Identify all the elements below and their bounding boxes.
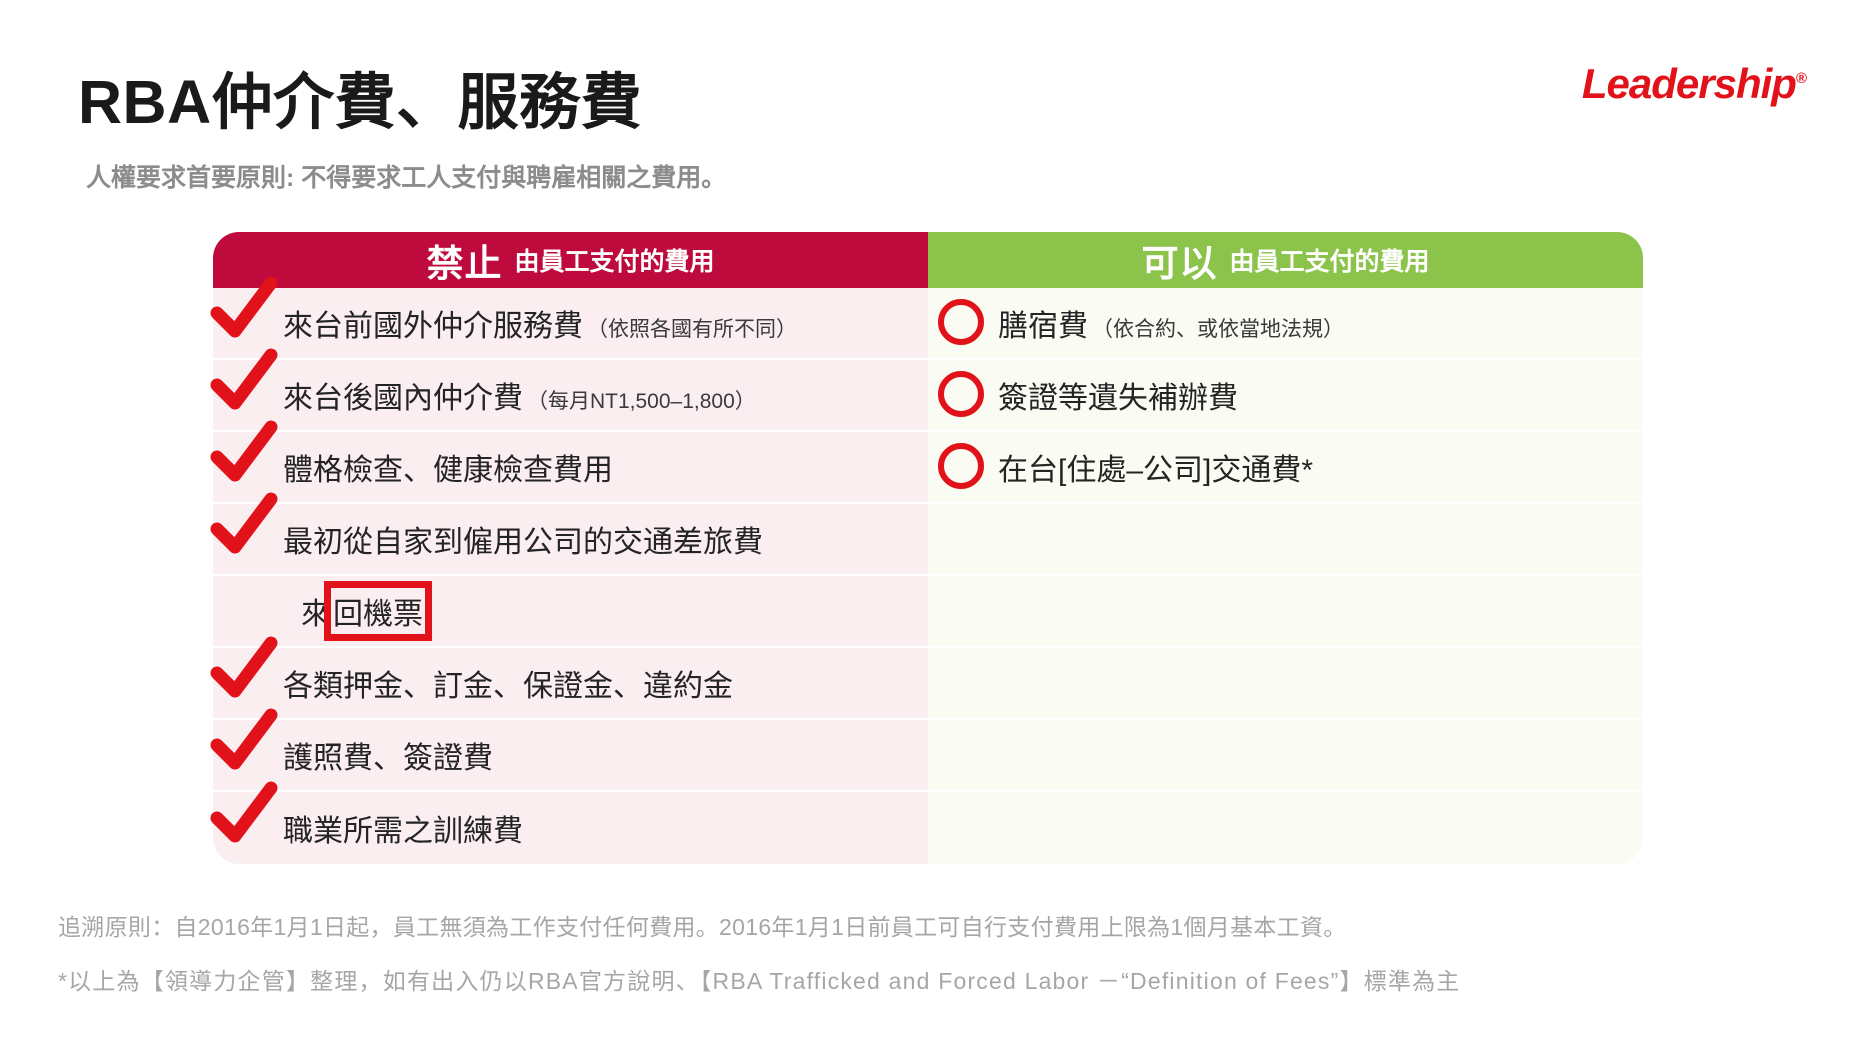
circle-icon	[938, 443, 984, 489]
table-row: 護照費、簽證費	[213, 720, 928, 792]
row-label-text: 來	[301, 589, 331, 633]
row-label-text: 職業所需之訓練費	[283, 806, 523, 850]
table-header-row: 禁止 由員工支付的費用 可以 由員工支付的費用	[213, 232, 1643, 288]
column-allowed: 膳宿費（依合約、或依當地法規）簽證等遺失補辦費在台[住處–公司]交通費*	[928, 288, 1643, 864]
row-label: 體格檢查、健康檢查費用	[283, 445, 613, 489]
mark-slot	[936, 575, 998, 647]
table-row: 最初從自家到僱用公司的交通差旅費	[213, 504, 928, 576]
row-label-text: 來台前國外仲介服務費	[283, 301, 583, 345]
footnote-retroactive-principle: 追溯原則：自2016年1月1日起，員工無須為工作支付任何費用。2016年1月1日…	[58, 908, 1818, 942]
column-header-allowed-sub: 由員工支付的費用	[1229, 242, 1429, 278]
row-label: 來台前國外仲介服務費（依照各國有所不同）	[283, 301, 797, 345]
highlight-box: 回機票	[331, 588, 425, 634]
row-label: 來台後國內仲介費（每月NT1,500–1,800）	[283, 373, 756, 417]
row-label-text: 最初從自家到僱用公司的交通差旅費	[283, 517, 763, 561]
row-label-text: 各類押金、訂金、保證金、違約金	[283, 661, 733, 705]
row-label-text: 簽證等遺失補辦費	[998, 373, 1238, 417]
row-label: 來回機票	[301, 588, 425, 634]
slide-header: RBA仲介費、服務費 人權要求首要原則: 不得要求工人支付與聘雇相關之費用。 L…	[0, 0, 1854, 200]
mark-slot	[221, 503, 283, 575]
check-icon	[209, 273, 281, 345]
table-row: 來台前國外仲介服務費（依照各國有所不同）	[213, 288, 928, 360]
check-icon	[209, 778, 281, 850]
row-label: 簽證等遺失補辦費	[998, 373, 1238, 417]
circle-icon	[938, 371, 984, 417]
check-icon	[209, 417, 281, 489]
column-header-forbidden-main: 禁止	[426, 233, 502, 287]
table-row: 體格檢查、健康檢查費用	[213, 432, 928, 504]
table-row: 各類押金、訂金、保證金、違約金	[213, 648, 928, 720]
row-label: 膳宿費（依合約、或依當地法規）	[998, 301, 1344, 345]
footnote-source-disclaimer: *以上為【領導力企管】整理，如有出入仍以RBA官方說明、【RBA Traffic…	[58, 962, 1818, 996]
table-row: 簽證等遺失補辦費	[928, 360, 1643, 432]
row-note: （依照各國有所不同）	[587, 313, 797, 343]
page-title: RBA仲介費、服務費	[78, 52, 642, 141]
table-row	[928, 720, 1643, 792]
mark-slot	[936, 719, 998, 791]
row-note: （每月NT1,500–1,800）	[527, 385, 756, 415]
check-icon	[209, 345, 281, 417]
column-header-forbidden-sub: 由員工支付的費用	[514, 242, 714, 278]
row-label-text: 護照費、簽證費	[283, 733, 493, 777]
column-header-allowed-main: 可以	[1141, 233, 1217, 287]
row-label: 護照費、簽證費	[283, 733, 493, 777]
row-label-text: 來台後國內仲介費	[283, 373, 523, 417]
row-note: （依合約、或依當地法規）	[1092, 313, 1344, 343]
page-subtitle: 人權要求首要原則: 不得要求工人支付與聘雇相關之費用。	[86, 158, 726, 194]
table-row: 在台[住處–公司]交通費*	[928, 432, 1643, 504]
brand-logo: Leadership®	[1582, 60, 1806, 108]
mark-slot	[936, 503, 998, 575]
check-icon	[209, 705, 281, 777]
row-label: 各類押金、訂金、保證金、違約金	[283, 661, 733, 705]
table-row	[928, 648, 1643, 720]
table-body: 來台前國外仲介服務費（依照各國有所不同）來台後國內仲介費（每月NT1,500–1…	[213, 288, 1643, 864]
table-row: 膳宿費（依合約、或依當地法規）	[928, 288, 1643, 360]
table-row: 來台後國內仲介費（每月NT1,500–1,800）	[213, 360, 928, 432]
row-label: 職業所需之訓練費	[283, 806, 523, 850]
mark-slot	[936, 359, 998, 431]
column-header-forbidden: 禁止 由員工支付的費用	[213, 232, 928, 288]
mark-slot	[936, 431, 998, 503]
mark-slot	[936, 792, 998, 864]
table-row: 職業所需之訓練費	[213, 792, 928, 864]
row-label-text: 體格檢查、健康檢查費用	[283, 445, 613, 489]
mark-slot	[936, 287, 998, 359]
check-icon	[209, 633, 281, 705]
column-header-allowed: 可以 由員工支付的費用	[928, 232, 1643, 288]
row-label-text: 在台[住處–公司]交通費*	[998, 445, 1313, 489]
table-row	[928, 504, 1643, 576]
table-row	[928, 792, 1643, 864]
row-label: 在台[住處–公司]交通費*	[998, 445, 1313, 489]
fee-comparison-table: 禁止 由員工支付的費用 可以 由員工支付的費用 來台前國外仲介服務費（依照各國有…	[213, 232, 1643, 864]
trademark-icon: ®	[1796, 70, 1806, 87]
mark-slot	[936, 647, 998, 719]
column-forbidden: 來台前國外仲介服務費（依照各國有所不同）來台後國內仲介費（每月NT1,500–1…	[213, 288, 928, 864]
mark-slot	[221, 792, 283, 864]
circle-icon	[938, 299, 984, 345]
brand-logo-text: Leadership	[1582, 60, 1796, 107]
row-label-text: 膳宿費	[998, 301, 1088, 345]
footnotes: 追溯原則：自2016年1月1日起，員工無須為工作支付任何費用。2016年1月1日…	[58, 908, 1818, 1016]
check-icon	[209, 489, 281, 561]
table-row: 來回機票	[213, 576, 928, 648]
table-row	[928, 576, 1643, 648]
row-label: 最初從自家到僱用公司的交通差旅費	[283, 517, 763, 561]
